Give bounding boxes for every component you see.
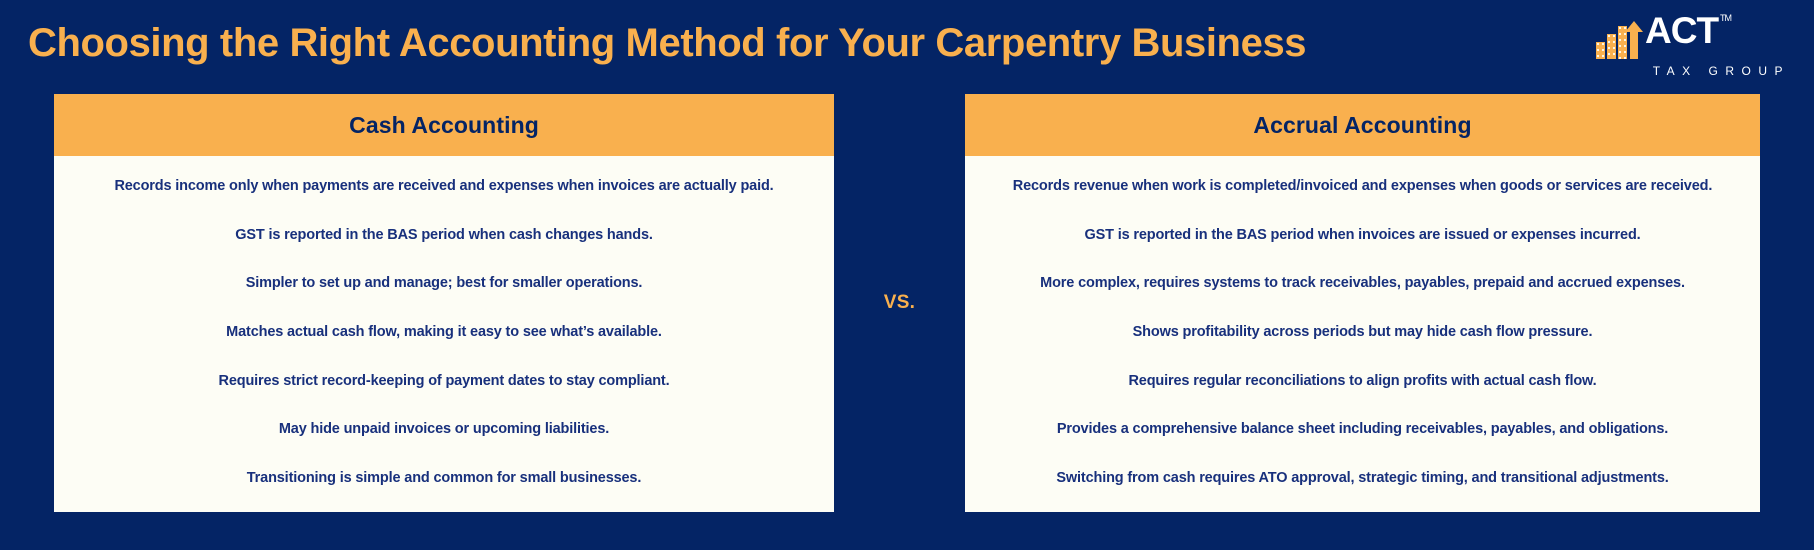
list-item: Records revenue when work is completed/i… bbox=[977, 177, 1748, 195]
versus-divider-label: VS. bbox=[834, 94, 965, 512]
list-item: GST is reported in the BAS period when c… bbox=[66, 226, 822, 244]
list-item: Matches actual cash flow, making it easy… bbox=[66, 323, 822, 341]
trademark-symbol: TM bbox=[1720, 13, 1731, 23]
comparison-area: Cash Accounting Records income only when… bbox=[0, 94, 1814, 514]
logo-arrow-stem bbox=[1630, 31, 1638, 59]
cash-accounting-title: Cash Accounting bbox=[349, 112, 539, 139]
list-item: Records income only when payments are re… bbox=[66, 177, 822, 195]
list-item: May hide unpaid invoices or upcoming lia… bbox=[66, 420, 822, 438]
logo-bar-small bbox=[1596, 42, 1605, 59]
accrual-accounting-card-header: Accrual Accounting bbox=[965, 94, 1760, 156]
logo-wordmark-text: ACT bbox=[1645, 10, 1718, 51]
act-tax-group-logo: ACTTM TAX GROUP bbox=[1596, 17, 1792, 79]
logo-top-row: ACTTM bbox=[1596, 17, 1792, 59]
bar-chart-growth-arrow-icon bbox=[1596, 21, 1642, 59]
cash-accounting-card-header: Cash Accounting bbox=[54, 94, 834, 156]
cash-accounting-card: Cash Accounting Records income only when… bbox=[54, 94, 834, 512]
page-title: Choosing the Right Accounting Method for… bbox=[28, 15, 1306, 71]
list-item: More complex, requires systems to track … bbox=[977, 274, 1748, 292]
list-item: Simpler to set up and manage; best for s… bbox=[66, 274, 822, 292]
list-item: Switching from cash requires ATO approva… bbox=[977, 469, 1748, 487]
list-item: GST is reported in the BAS period when i… bbox=[977, 226, 1748, 244]
list-item: Provides a comprehensive balance sheet i… bbox=[977, 420, 1748, 438]
accrual-accounting-title: Accrual Accounting bbox=[1253, 112, 1471, 139]
page-header: Choosing the Right Accounting Method for… bbox=[0, 0, 1814, 94]
list-item: Requires strict record-keeping of paymen… bbox=[66, 372, 822, 390]
logo-arrow-head bbox=[1625, 21, 1643, 32]
accrual-accounting-points: Records revenue when work is completed/i… bbox=[965, 156, 1760, 512]
cash-accounting-points: Records income only when payments are re… bbox=[54, 156, 834, 512]
list-item: Requires regular reconciliations to alig… bbox=[977, 372, 1748, 390]
logo-bar-medium bbox=[1607, 34, 1616, 59]
list-item: Shows profitability across periods but m… bbox=[977, 323, 1748, 341]
logo-wordmark: ACTTM bbox=[1645, 12, 1729, 59]
logo-tagline: TAX GROUP bbox=[1596, 64, 1792, 78]
accrual-accounting-card: Accrual Accounting Records revenue when … bbox=[965, 94, 1760, 512]
list-item: Transitioning is simple and common for s… bbox=[66, 469, 822, 487]
